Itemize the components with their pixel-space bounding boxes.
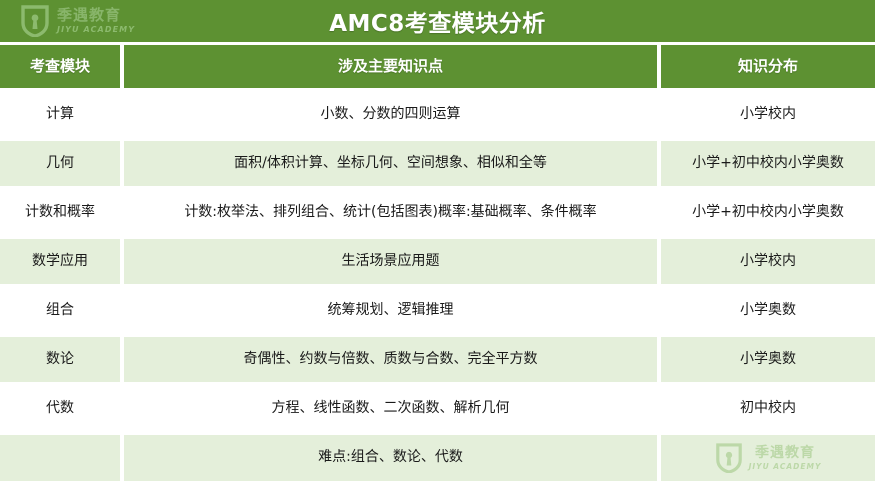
cell-distribution: 小学奥数 [661, 337, 875, 382]
title-bar: 季遇教育 JIYU ACADEMY AMC8考查模块分析 [0, 0, 875, 42]
table-row: 代数 方程、线性函数、二次函数、解析几何 初中校内 [0, 386, 875, 431]
shield-keyhole-icon [715, 443, 743, 473]
brand-wordmark: 季遇教育 JIYU ACADEMY [57, 8, 135, 34]
cell-distribution: 小学奥数 [661, 288, 875, 333]
cell-points: 统筹规划、逻辑推理 [124, 288, 657, 333]
cell-module: 代数 [0, 386, 120, 431]
watermark-logo: 季遇教育 JIYU ACADEMY [715, 443, 822, 473]
page-title: AMC8考查模块分析 [329, 4, 546, 38]
table-row: 计算 小数、分数的四则运算 小学校内 [0, 92, 875, 137]
shield-keyhole-icon [20, 5, 50, 37]
column-header-distribution: 知识分布 [661, 45, 875, 88]
cell-module: 几何 [0, 141, 120, 186]
cell-points: 生活场景应用题 [124, 239, 657, 284]
cell-distribution: 小学+初中校内小学奥数 [661, 141, 875, 186]
cell-module: 计算 [0, 92, 120, 137]
column-header-module: 考查模块 [0, 45, 120, 88]
table-row: 组合 统筹规划、逻辑推理 小学奥数 [0, 288, 875, 333]
cell-module: 计数和概率 [0, 190, 120, 235]
cell-module: 数学应用 [0, 239, 120, 284]
brand-name-en: JIYU ACADEMY [57, 26, 135, 34]
cell-module: 数论 [0, 337, 120, 382]
cell-points: 小数、分数的四则运算 [124, 92, 657, 137]
cell-points: 奇偶性、约数与倍数、质数与合数、完全平方数 [124, 337, 657, 382]
table-row: 数学应用 生活场景应用题 小学校内 [0, 239, 875, 284]
cell-points: 计数:枚举法、排列组合、统计(包括图表)概率:基础概率、条件概率 [124, 190, 657, 235]
brand-logo: 季遇教育 JIYU ACADEMY [20, 4, 135, 38]
cell-module: 组合 [0, 288, 120, 333]
table-grid: 考查模块 涉及主要知识点 知识分布 计算 小数、分数的四则运算 小学校内 几何 … [0, 45, 875, 481]
cell-distribution: 小学+初中校内小学奥数 [661, 190, 875, 235]
watermark-name-cn: 季遇教育 [749, 446, 822, 460]
amc8-module-analysis-table: 季遇教育 JIYU ACADEMY AMC8考查模块分析 考查模块 涉及主要知识… [0, 0, 875, 459]
cell-distribution: 小学校内 [661, 239, 875, 284]
watermark-wordmark: 季遇教育 JIYU ACADEMY [749, 446, 822, 471]
table-header-row: 考查模块 涉及主要知识点 知识分布 [0, 45, 875, 88]
cell-points: 面积/体积计算、坐标几何、空间想象、相似和全等 [124, 141, 657, 186]
watermark-name-en: JIYU ACADEMY [749, 463, 822, 471]
cell-watermark: 季遇教育 JIYU ACADEMY [661, 435, 875, 481]
table-row: 几何 面积/体积计算、坐标几何、空间想象、相似和全等 小学+初中校内小学奥数 [0, 141, 875, 186]
cell-distribution: 初中校内 [661, 386, 875, 431]
cell-difficulty-summary: 难点:组合、数论、代数 [124, 435, 657, 481]
table-footer-row: 难点:组合、数论、代数 季遇教育 JIYU ACADEMY [0, 435, 875, 481]
table-row: 数论 奇偶性、约数与倍数、质数与合数、完全平方数 小学奥数 [0, 337, 875, 382]
cell-module-empty [0, 435, 120, 481]
cell-distribution: 小学校内 [661, 92, 875, 137]
table-row: 计数和概率 计数:枚举法、排列组合、统计(包括图表)概率:基础概率、条件概率 小… [0, 190, 875, 235]
column-header-points: 涉及主要知识点 [124, 45, 657, 88]
cell-points: 方程、线性函数、二次函数、解析几何 [124, 386, 657, 431]
brand-name-cn: 季遇教育 [57, 8, 135, 23]
